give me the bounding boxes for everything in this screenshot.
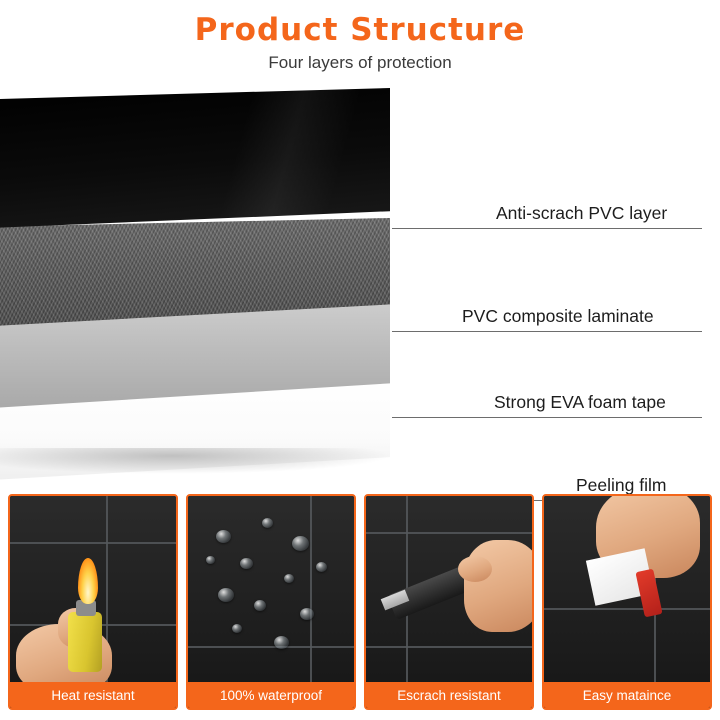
water-drop-icon <box>316 562 327 572</box>
page-title: Product Structure <box>0 12 720 48</box>
tile-background <box>188 496 354 708</box>
feature-caption: Escrach resistant <box>366 682 532 708</box>
callout-label: Peeling film <box>576 475 666 496</box>
water-drop-icon <box>292 536 309 551</box>
water-drop-icon <box>232 624 242 633</box>
water-drop-icon <box>240 558 253 569</box>
hand-icon <box>464 540 534 632</box>
water-drop-icon <box>206 556 215 564</box>
feature-caption: Heat resistant <box>10 682 176 708</box>
water-drop-icon <box>254 600 266 611</box>
layer-diagram: Anti-scrach PVC layer PVC composite lami… <box>0 78 720 490</box>
gloss-highlight <box>0 88 390 228</box>
layer-anti-scratch-pvc <box>0 88 390 228</box>
water-drop-icon <box>274 636 289 649</box>
callout-rule <box>392 228 702 229</box>
callout-rule <box>392 417 702 418</box>
feature-card-heat-resistant: Heat resistant <box>8 494 178 710</box>
callout-label: Strong EVA foam tape <box>494 392 666 413</box>
feature-card-waterproof: 100% waterproof <box>186 494 356 710</box>
tile-grout-line <box>10 542 176 544</box>
feature-caption: 100% waterproof <box>188 682 354 708</box>
water-drop-icon <box>216 530 231 543</box>
tile-grout-line <box>310 496 312 708</box>
feature-strip: Heat resistant 100% waterproof Escrac <box>0 494 720 720</box>
feature-card-easy-maintenance: Easy mataince <box>542 494 712 710</box>
callout-label: Anti-scrach PVC layer <box>496 203 667 224</box>
lighter-body-icon <box>68 612 102 672</box>
finger-icon <box>458 556 492 582</box>
water-drop-icon <box>218 588 234 602</box>
water-drop-icon <box>262 518 273 528</box>
callout-rule <box>392 331 702 332</box>
feature-caption: Easy mataince <box>544 682 710 708</box>
diagram-shadow <box>0 448 392 474</box>
feature-card-scratch-resistant: Escrach resistant <box>364 494 534 710</box>
tile-grout-line <box>366 646 532 648</box>
tile-grout-line <box>188 646 354 648</box>
callout-label: PVC composite laminate <box>462 306 654 327</box>
tile-grout-line <box>366 532 532 534</box>
water-drop-icon <box>300 608 314 620</box>
header: Product Structure Four layers of protect… <box>0 0 720 78</box>
tile-grout-line <box>544 608 710 610</box>
page-subtitle: Four layers of protection <box>0 53 720 73</box>
water-drop-icon <box>284 574 294 583</box>
